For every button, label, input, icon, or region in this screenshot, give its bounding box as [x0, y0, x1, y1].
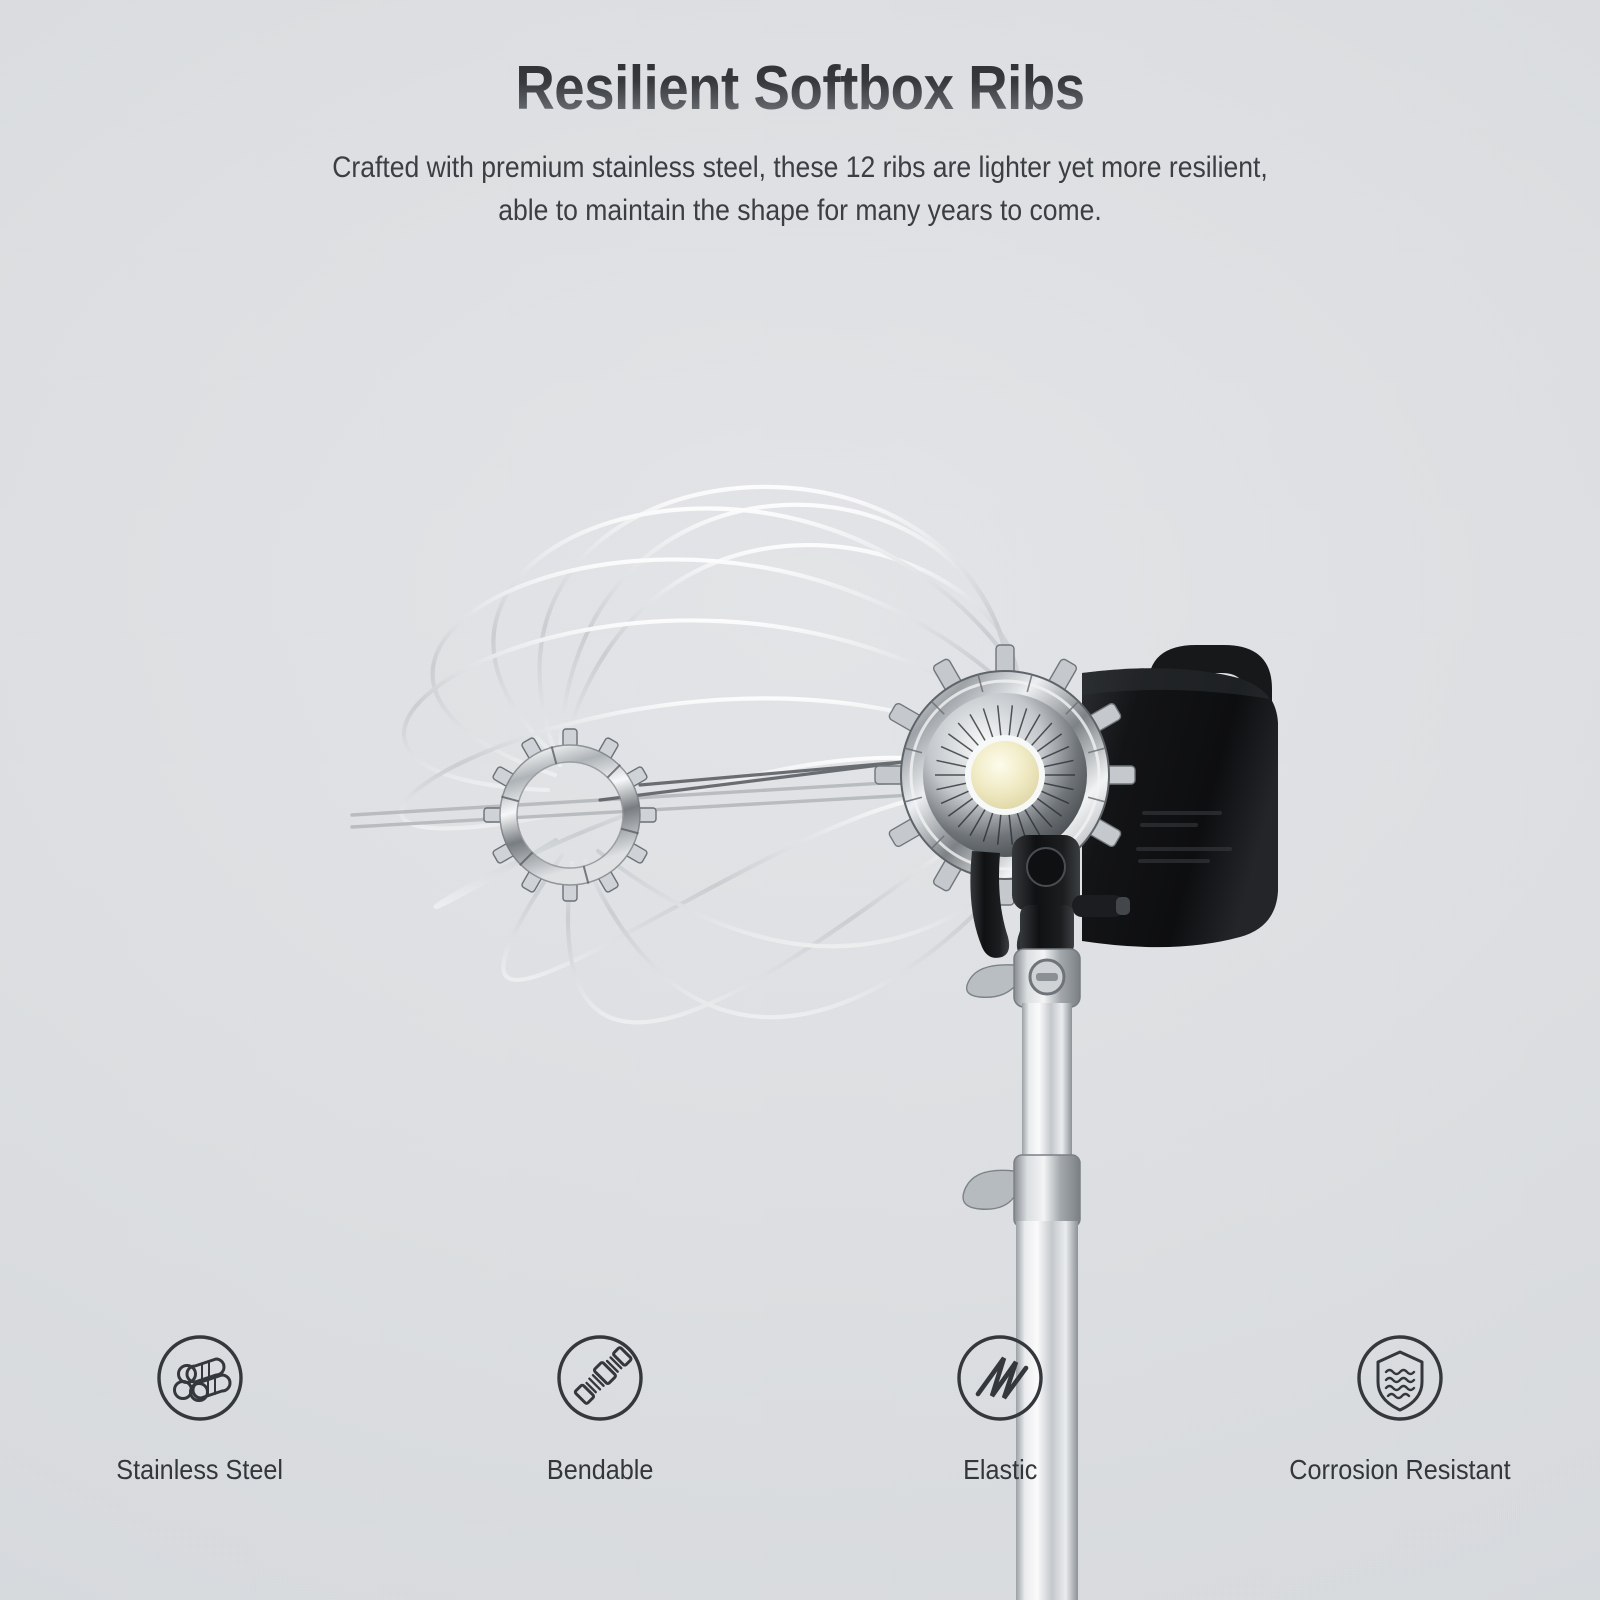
header: Resilient Softbox Ribs Crafted with prem… — [0, 0, 1600, 233]
feature-corrosion-resistant[interactable]: Corrosion Resistant — [1200, 1330, 1600, 1550]
light-stand — [963, 835, 1130, 1351]
feature-elastic[interactable]: Elastic — [800, 1330, 1200, 1550]
feature-label: Bendable — [547, 1454, 654, 1486]
subtitle-line-1: Crafted with premium stainless steel, th… — [80, 147, 1520, 190]
feature-list: Stainless Steel Bendable Elast — [0, 1330, 1600, 1550]
feature-label: Stainless Steel — [117, 1454, 284, 1486]
shield-waves-icon — [1352, 1330, 1448, 1426]
tilt-knob — [1072, 895, 1130, 917]
page-title: Resilient Softbox Ribs — [96, 56, 1504, 121]
page-subtitle: Crafted with premium stainless steel, th… — [80, 147, 1520, 233]
bendable-band-icon — [552, 1330, 648, 1426]
subtitle-line-2: able to maintain the shape for many year… — [80, 190, 1520, 233]
feature-bendable[interactable]: Bendable — [400, 1330, 800, 1550]
product-photo — [0, 255, 1600, 1345]
steel-rods-icon — [152, 1330, 248, 1426]
zigzag-spring-icon — [952, 1330, 1048, 1426]
feature-label: Corrosion Resistant — [1289, 1454, 1510, 1486]
feature-label: Elastic — [963, 1454, 1037, 1486]
feature-stainless-steel[interactable]: Stainless Steel — [0, 1330, 400, 1550]
